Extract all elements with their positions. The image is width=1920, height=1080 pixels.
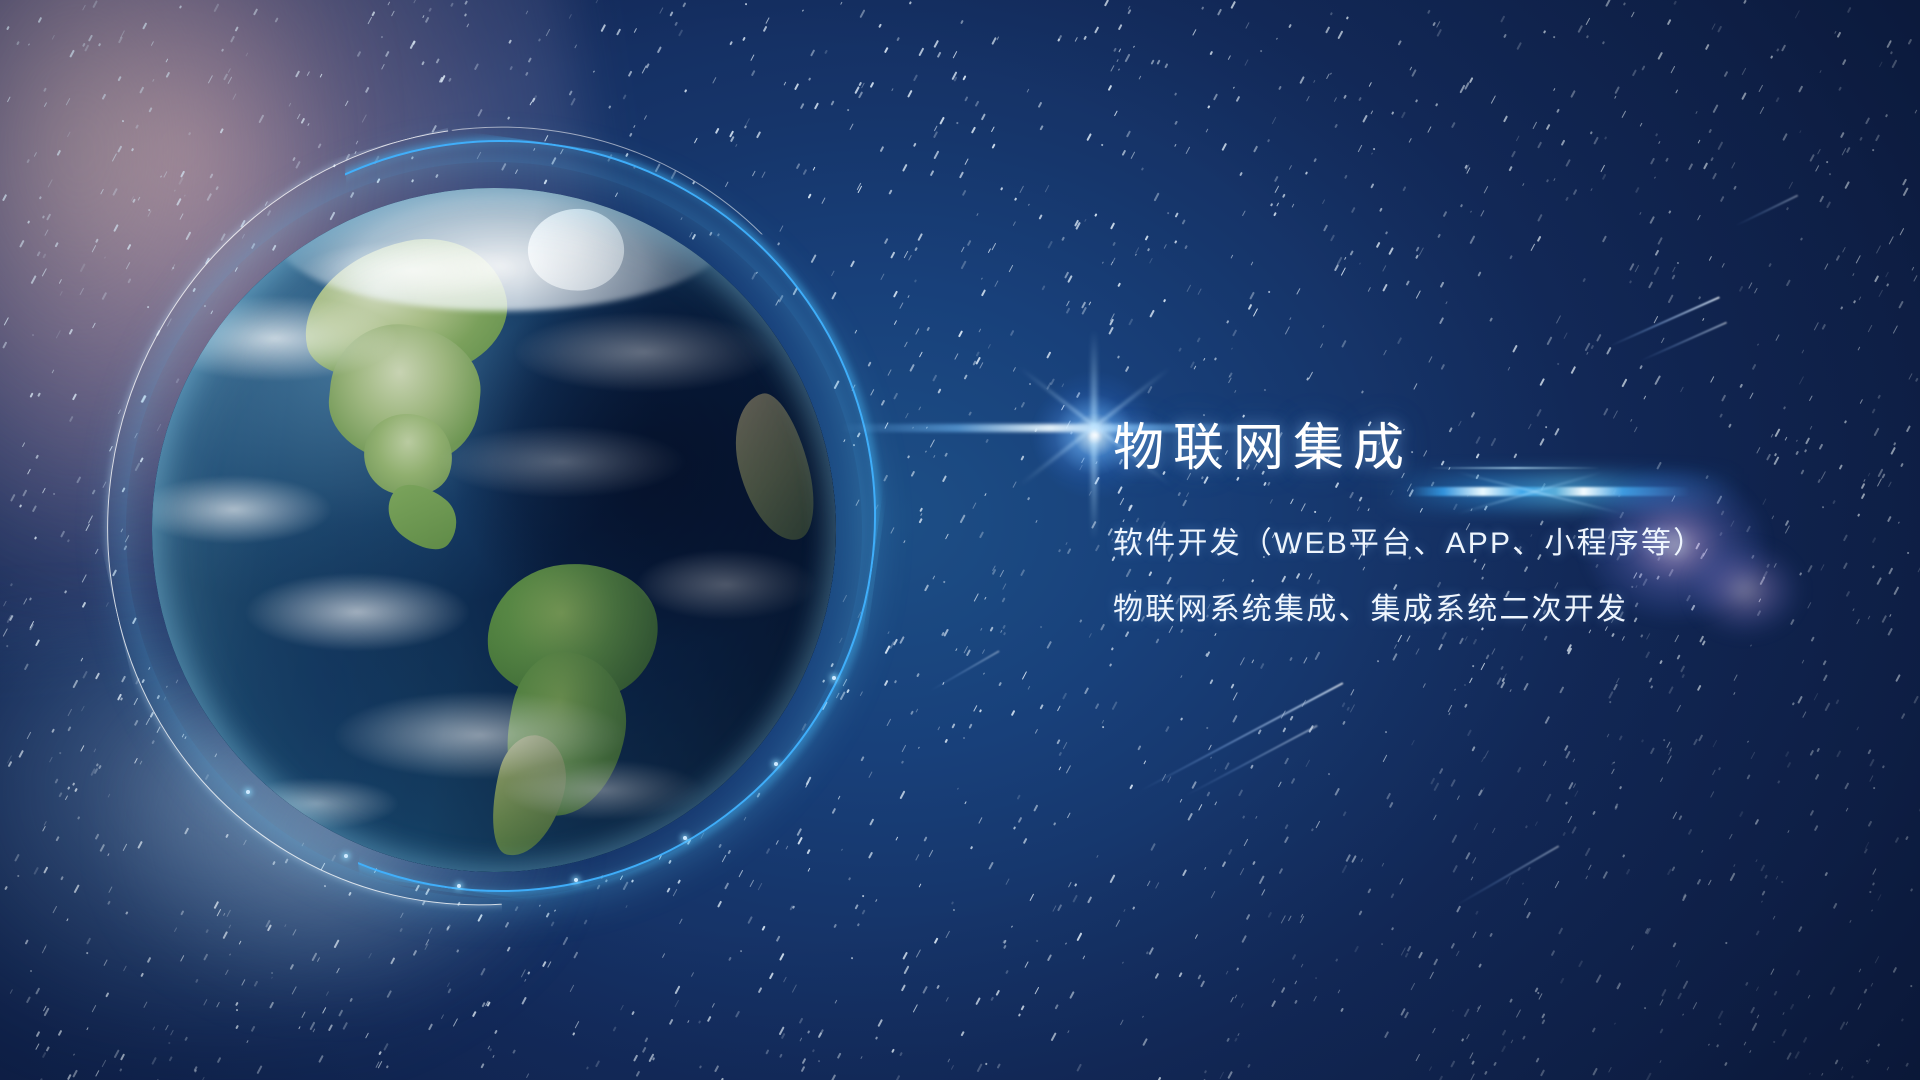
subtitle-line-1: 软件开发（WEB平台、APP、小程序等） xyxy=(1113,518,1813,562)
lens-flare-vertical-streak xyxy=(1091,330,1097,540)
page-title: 物联网集成 xyxy=(1113,414,1813,482)
banner-text-block: 物联网集成 软件开发（WEB平台、APP、小程序等） 物联网系统集成、集成系统二… xyxy=(1113,414,1813,628)
orbit-node-icon xyxy=(683,836,687,840)
subtitle-line-2: 物联网系统集成、集成系统二次开发 xyxy=(1113,584,1813,628)
orbit-node-icon xyxy=(574,878,578,882)
orbit-node-icon xyxy=(246,790,250,794)
orbit-node-icon xyxy=(457,884,461,888)
banner-hero: 物联网集成 软件开发（WEB平台、APP、小程序等） 物联网系统集成、集成系统二… xyxy=(0,0,1920,1080)
orbit-node-icon xyxy=(344,854,348,858)
